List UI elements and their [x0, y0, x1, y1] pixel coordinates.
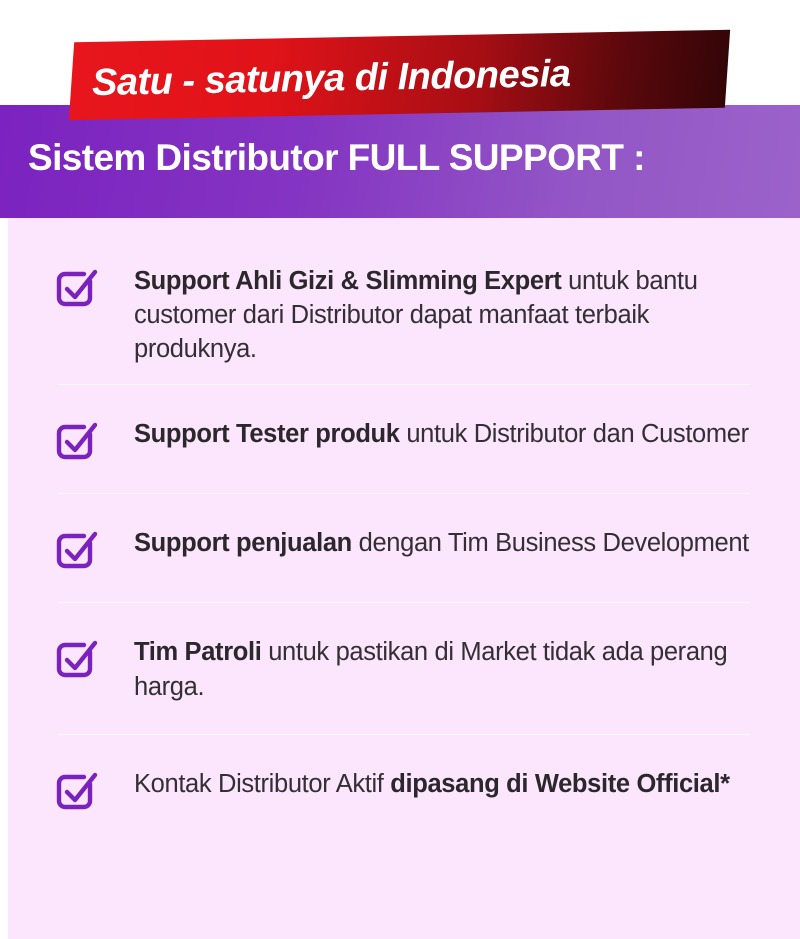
list-divider — [58, 602, 750, 603]
check-cell — [54, 264, 134, 310]
list-item: Support Ahli Gizi & Slimming Expert untu… — [8, 218, 800, 384]
list-item: Support penjualan dengan Tim Business De… — [8, 494, 800, 602]
list-item-bold-lead: Support penjualan — [134, 529, 352, 557]
page-title: Sistem Distributor FULL SUPPORT : — [28, 139, 788, 176]
checkbox-checked-icon — [54, 639, 100, 681]
promo-poster: Satu - satunya di Indonesia Sistem Distr… — [0, 0, 800, 939]
list-divider — [58, 493, 750, 494]
checkbox-checked-icon — [54, 421, 100, 463]
checkbox-checked-icon — [54, 268, 100, 310]
list-item-bold-trailing: dipasang di Website Official* — [390, 770, 729, 798]
checkbox-checked-icon — [54, 530, 100, 572]
list-item-text: Support penjualan dengan Tim Business De… — [134, 526, 756, 560]
list-item: Tim Patroli untuk pastikan di Market tid… — [8, 603, 800, 733]
list-divider — [58, 384, 750, 385]
list-item: Kontak Distributor Aktif dipasang di Web… — [8, 735, 800, 843]
list-item-text: Tim Patroli untuk pastikan di Market tid… — [134, 635, 756, 703]
list-item-rest: dengan Tim Business Development — [352, 529, 749, 557]
list-item-rest: Kontak Distributor Aktif — [134, 770, 390, 798]
list-item-text: Support Ahli Gizi & Slimming Expert untu… — [134, 264, 756, 366]
checkbox-checked-icon — [54, 771, 100, 813]
list-item: Support Tester produk untuk Distributor … — [8, 385, 800, 493]
list-item-rest: untuk Distributor dan Customer — [400, 420, 749, 448]
support-feature-list: Support Ahli Gizi & Slimming Expert untu… — [8, 218, 800, 843]
list-item-bold-lead: Support Tester produk — [134, 420, 400, 448]
list-divider — [58, 734, 750, 735]
list-item-text: Kontak Distributor Aktif dipasang di Web… — [134, 767, 756, 801]
check-cell — [54, 417, 134, 463]
check-cell — [54, 526, 134, 572]
check-cell — [54, 767, 134, 813]
ribbon-headline: Satu - satunya di Indonesia — [92, 42, 733, 112]
list-item-text: Support Tester produk untuk Distributor … — [134, 417, 756, 451]
list-item-bold-lead: Support Ahli Gizi & Slimming Expert — [134, 267, 561, 295]
check-cell — [54, 635, 134, 681]
list-item-bold-lead: Tim Patroli — [134, 638, 261, 666]
